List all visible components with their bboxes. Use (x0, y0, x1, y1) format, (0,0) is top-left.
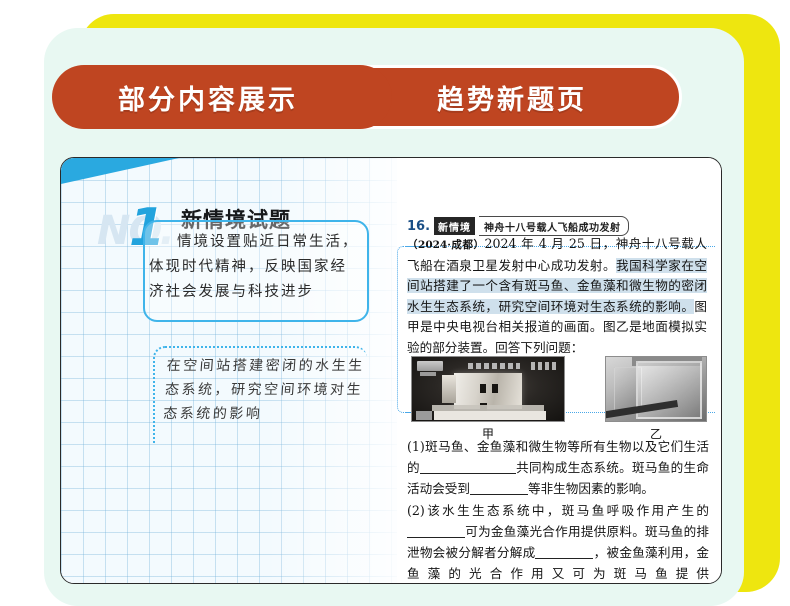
cctv-logo-icon (417, 361, 443, 371)
tv-lower-third-title (434, 411, 546, 420)
sub1-blank-2[interactable] (470, 494, 528, 495)
handwritten-note-text: 在空间站搭建密闭的水生生态系统，研究空间环境对生态系统的影响 (162, 354, 373, 426)
space-station-model (454, 373, 522, 409)
content-card: NO. 1 新情境试题 情境设置贴近日常生活，体现时代精神，反映国家经济社会发展… (60, 157, 722, 584)
sub2-label: (2) (407, 503, 425, 518)
sub-question-2: (2)该水生生态系统中，斑马鱼呼吸作用产生的可为金鱼藻光合作用提供原料。斑马鱼的… (407, 500, 709, 584)
tag-title: 神舟十八号载人飞船成功发射 (479, 216, 629, 236)
pill-left-label: 部分内容展示 (118, 78, 298, 117)
page-root: 趋势新题页 部分内容展示 NO. 1 新情境试题 情境设置贴近日常生活，体现时代… (0, 0, 790, 606)
aquarium-tank-image (605, 356, 707, 422)
sub2-blank-1[interactable] (407, 537, 465, 538)
tag-new-context: 新情境 (434, 217, 475, 235)
question-stem: （2024·成都）2024 年 4 月 25 日，神舟十八号载人飞船在酒泉卫星发… (407, 234, 707, 358)
exam-page: 16. 新情境 神舟十八号载人飞船成功发射 （2024·成都）2024 年 4 … (397, 158, 721, 583)
station-window-2 (492, 384, 498, 393)
figure-row: 甲 乙 (411, 356, 707, 442)
cctv-sublogo-icon (420, 372, 436, 376)
sub2-seg1: 该水生生态系统中，斑马鱼呼吸作用产生的 (425, 503, 709, 518)
header-pill-row: 趋势新题页 部分内容展示 (52, 65, 682, 129)
question-source: （2024·成都） (407, 239, 485, 251)
sub2-blank-2[interactable] (535, 558, 593, 559)
sub1-blank-1[interactable] (420, 473, 516, 474)
figure-jia: 甲 (411, 356, 565, 442)
station-window-1 (480, 384, 486, 393)
figure-yi: 乙 (605, 356, 707, 442)
sub1-seg3: 等非生物因素的影响。 (528, 481, 654, 496)
description-text: 情境设置贴近日常生活，体现时代精神，反映国家经济社会发展与科技进步 (149, 230, 361, 305)
question-number: 16. (407, 219, 430, 234)
sub-question-list: (1)斑马鱼、金鱼藻和微生物等所有生物以及它们生活的共同构成生态系统。斑马鱼的生… (407, 436, 709, 584)
tv-corner-text (531, 362, 559, 370)
question-header: 16. 新情境 神舟十八号载人飞船成功发射 (407, 216, 629, 236)
pill-right-label: 趋势新题页 (437, 78, 587, 117)
sub-question-1: (1)斑马鱼、金鱼藻和微生物等所有生物以及它们生活的共同构成生态系统。斑马鱼的生… (407, 436, 709, 499)
tv-channel-badge (416, 411, 432, 420)
pill-partial-content[interactable]: 部分内容展示 (52, 65, 392, 129)
corner-triangle-icon (61, 158, 179, 184)
sub1-label: (1) (407, 439, 425, 454)
tv-broadcast-image (411, 356, 565, 422)
tv-headline-bar (468, 363, 520, 369)
